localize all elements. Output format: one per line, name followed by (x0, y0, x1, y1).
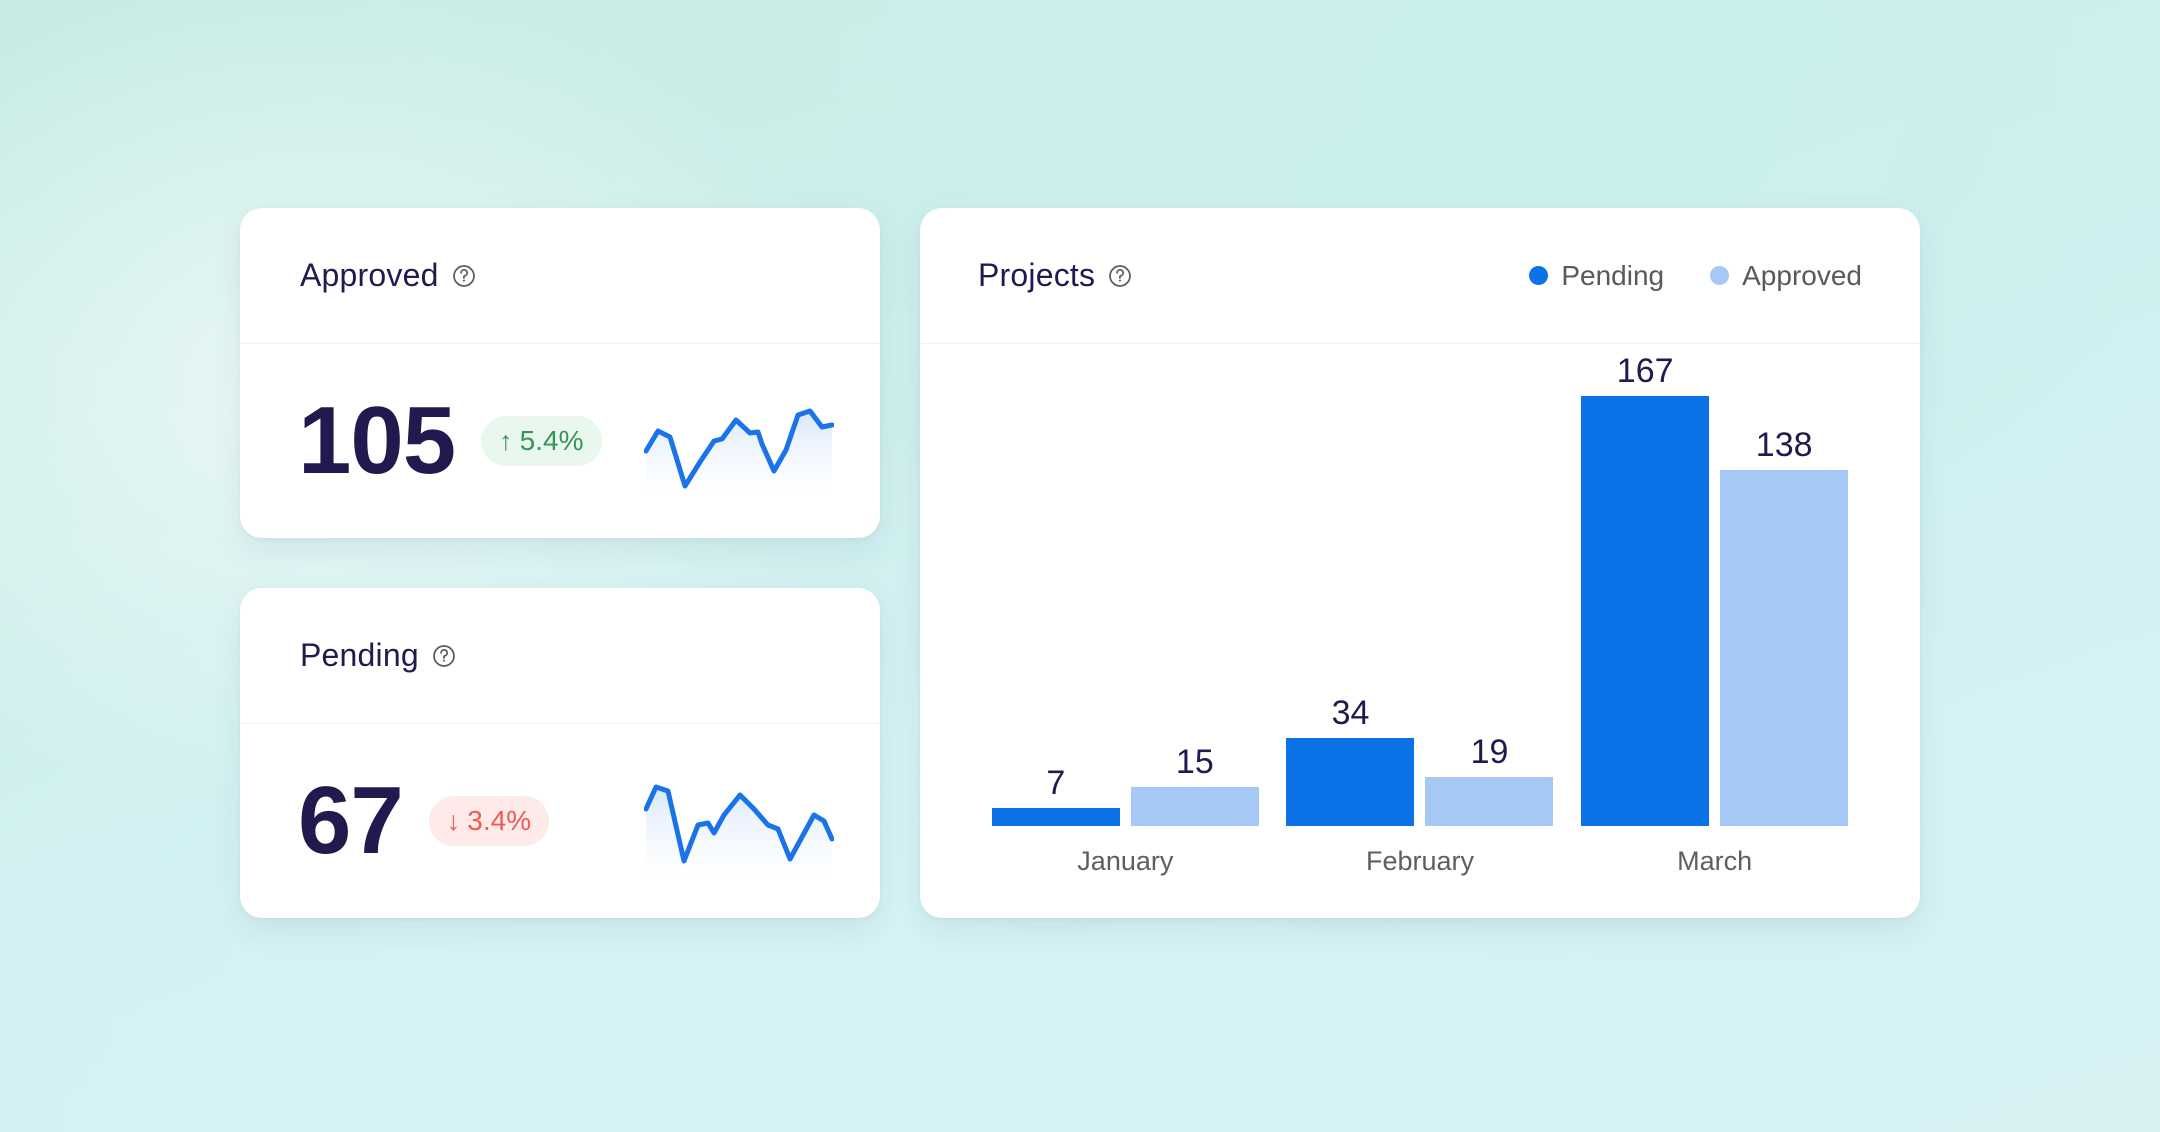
help-circle-icon[interactable] (451, 263, 477, 289)
bar-wrapper[interactable]: 15 (1131, 362, 1259, 826)
projects-card-header: Projects Pending Approved (920, 208, 1920, 344)
legend-label-pending: Pending (1561, 260, 1664, 292)
bar-group: 715January (978, 362, 1273, 826)
pending-card-body: 67 ↓ 3.4% (240, 724, 880, 918)
legend-item-pending[interactable]: Pending (1529, 260, 1664, 292)
bar-approved[interactable] (1425, 777, 1553, 826)
projects-title-group: Projects (978, 257, 1133, 294)
bar-value-label: 19 (1425, 735, 1553, 777)
chart-legend: Pending Approved (1529, 260, 1862, 292)
bar-plot: 715January3419February167138March (978, 362, 1862, 826)
bar-value-label: 167 (1581, 354, 1709, 396)
bar-pending[interactable] (992, 808, 1120, 826)
help-circle-icon[interactable] (431, 643, 457, 669)
approved-sparkline (644, 387, 834, 495)
bar-group: 3419February (1273, 362, 1568, 826)
x-axis-label: January (978, 826, 1273, 875)
pending-stat-card: Pending 67 ↓ 3.4% (240, 588, 880, 918)
legend-label-approved: Approved (1742, 260, 1862, 292)
x-axis-label: March (1567, 826, 1862, 875)
bar-approved[interactable] (1720, 470, 1848, 826)
approved-stat-card: Approved 105 ↑ 5.4% (240, 208, 880, 538)
legend-dot-approved (1710, 266, 1729, 285)
bar-wrapper[interactable]: 19 (1425, 362, 1553, 826)
pending-card-header: Pending (240, 588, 880, 724)
approved-card-header: Approved (240, 208, 880, 344)
bar-approved[interactable] (1131, 787, 1259, 826)
pending-card-title: Pending (300, 637, 419, 674)
bar-value-label: 15 (1131, 745, 1259, 787)
approved-delta-value: 5.4% (520, 425, 584, 457)
bar-wrapper[interactable]: 167 (1581, 362, 1709, 826)
arrow-up-icon: ↑ (499, 428, 513, 455)
help-circle-icon[interactable] (1107, 263, 1133, 289)
bar-wrapper[interactable]: 34 (1286, 362, 1414, 826)
pending-sparkline (644, 767, 834, 875)
projects-chart-card: Projects Pending Approved 715January3419… (920, 208, 1920, 918)
approved-value: 105 (298, 393, 455, 489)
bar-pending[interactable] (1286, 738, 1414, 826)
approved-delta-badge: ↑ 5.4% (481, 416, 601, 466)
arrow-down-icon: ↓ (447, 808, 461, 835)
chart-area: 715January3419February167138March (920, 344, 1920, 918)
bar-value-label: 138 (1720, 428, 1848, 470)
projects-card-title: Projects (978, 257, 1095, 294)
bar-value-label: 34 (1286, 696, 1414, 738)
pending-value: 67 (298, 773, 403, 869)
legend-item-approved[interactable]: Approved (1710, 260, 1862, 292)
x-axis-label: February (1273, 826, 1568, 875)
bar-pending[interactable] (1581, 396, 1709, 826)
bar-value-label: 7 (992, 766, 1120, 808)
pending-delta-value: 3.4% (467, 805, 531, 837)
bar-wrapper[interactable]: 138 (1720, 362, 1848, 826)
bar-group: 167138March (1567, 362, 1862, 826)
bar-wrapper[interactable]: 7 (992, 362, 1120, 826)
pending-delta-badge: ↓ 3.4% (429, 796, 549, 846)
approved-card-title: Approved (300, 257, 439, 294)
approved-card-body: 105 ↑ 5.4% (240, 344, 880, 538)
legend-dot-pending (1529, 266, 1548, 285)
